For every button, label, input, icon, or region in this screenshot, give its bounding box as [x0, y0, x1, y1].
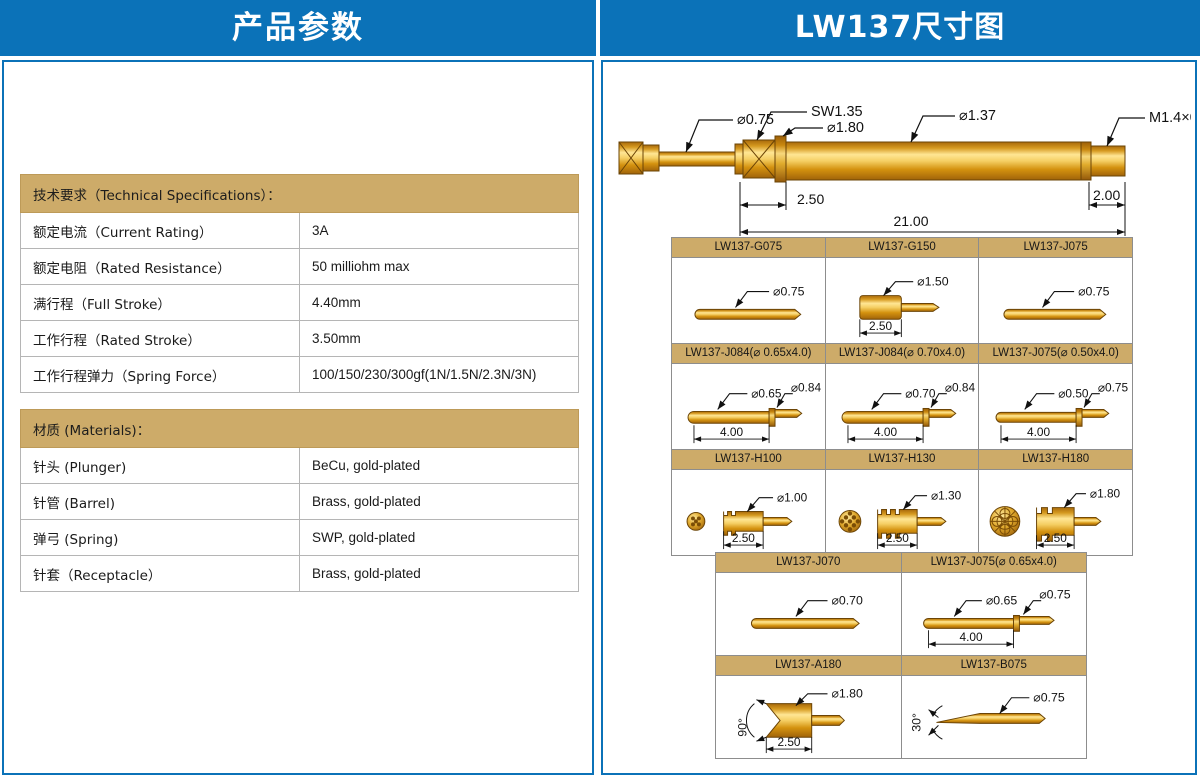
- angle-label: 90°: [736, 718, 750, 737]
- len-label: 2.50: [1044, 531, 1067, 545]
- variant-drawing-row: ⌀0.75 ⌀1.50 2.50: [672, 258, 1133, 344]
- main-barrel: [786, 142, 1081, 180]
- len-label: 4.00: [874, 425, 897, 439]
- dim-text-thread: 2.00: [1093, 187, 1120, 203]
- drawing-h100: ⌀1.00 2.50: [672, 470, 825, 555]
- variant-name: LW137-J070: [716, 553, 902, 573]
- drawing-j070: ⌀0.70: [716, 573, 901, 655]
- crown-face-view: [839, 511, 861, 533]
- label-wrench-flat: SW1.35: [811, 104, 863, 120]
- table-row: 弹弓 (Spring) SWP, gold-plated: [21, 520, 579, 556]
- variant-header-row: LW137-J070 LW137-J075(⌀ 0.65x4.0): [716, 553, 1087, 573]
- len-label: 2.50: [885, 531, 908, 545]
- table-row: 工作行程（Rated Stroke） 3.50mm: [21, 321, 579, 357]
- variant-name: LW137-H180: [979, 450, 1133, 470]
- dia2-label: ⌀0.84: [944, 381, 975, 395]
- table-row: 额定电阻（Rated Resistance） 50 milliohm max: [21, 249, 579, 285]
- dim-text-total: 21.00: [893, 213, 928, 229]
- material-value: Brass, gold-plated: [300, 556, 579, 592]
- table-row: 额定电流（Current Rating） 3A: [21, 213, 579, 249]
- len-label: 4.00: [720, 425, 743, 439]
- dia2-label: ⌀0.75: [1098, 381, 1129, 395]
- dia-label: ⌀1.80: [1090, 487, 1121, 501]
- label-flange-dia: ⌀1.80: [827, 120, 864, 136]
- variant-drawing-row: 90° ⌀1.80 2.50: [716, 676, 1087, 759]
- material-value: BeCu, gold-plated: [300, 448, 579, 484]
- leader-barrel-dia: [911, 116, 955, 142]
- dim-stroke-length: [740, 182, 786, 218]
- angle-label: 30°: [909, 713, 923, 732]
- table-row: 工作行程弹力（Spring Force） 100/150/230/300gf(1…: [21, 357, 579, 393]
- variant-name: LW137-H100: [672, 450, 826, 470]
- variant-cell-j075-065: ⌀0.65 ⌀0.75 4.00: [901, 573, 1087, 656]
- crown-face-view: [990, 507, 1020, 537]
- len-label: 4.00: [1027, 425, 1050, 439]
- variant-cell-j084-070: ⌀0.70 ⌀0.84 4.00: [825, 364, 979, 450]
- variant-name: LW137-G150: [825, 238, 979, 258]
- dia-label: ⌀1.30: [931, 489, 962, 503]
- dia-label: ⌀0.50: [1059, 387, 1090, 401]
- variant-name: LW137-G075: [672, 238, 826, 258]
- variant-cell-j070: ⌀0.70: [716, 573, 902, 656]
- label-barrel-dia: ⌀1.37: [959, 108, 996, 124]
- variant-cell-g075: ⌀0.75: [672, 258, 826, 344]
- dia2-label: ⌀0.84: [791, 381, 822, 395]
- product-parameters-panel: 技术要求（Technical Specifications）： 额定电流（Cur…: [2, 60, 594, 775]
- variant-grid-secondary: LW137-J070 LW137-J075(⌀ 0.65x4.0) ⌀0.70: [715, 552, 1087, 759]
- table-section-header: 技术要求（Technical Specifications）：: [21, 175, 579, 213]
- dia2-label: ⌀0.75: [1039, 588, 1071, 602]
- right-panel-title: LW137尺寸图: [795, 13, 1006, 43]
- table-row: 针管 (Barrel) Brass, gold-plated: [21, 484, 579, 520]
- variant-name: LW137-J075: [979, 238, 1133, 258]
- material-key: 弹弓 (Spring): [21, 520, 300, 556]
- variant-cell-j084-065: ⌀0.65 ⌀0.84 4.00: [672, 364, 826, 450]
- drawing-h130: ⌀1.30 2.50: [826, 470, 979, 555]
- dia-label: ⌀1.50: [917, 275, 949, 289]
- variant-name: LW137-H130: [825, 450, 979, 470]
- leader-plunger-dia: [686, 120, 733, 152]
- spec-value: 100/150/230/300gf(1N/1.5N/2.3N/3N): [300, 357, 579, 393]
- dia-label: ⌀0.75: [1033, 691, 1065, 705]
- variant-cell-a180: 90° ⌀1.80 2.50: [716, 676, 902, 759]
- len-label: 4.00: [959, 630, 982, 644]
- dimension-drawing-panel: ⌀0.75 SW1.35 ⌀1.80 ⌀1.37 M1.4×0.3 2.50 2…: [601, 60, 1197, 775]
- dia-label: ⌀0.70: [831, 594, 863, 608]
- variant-cell-h180: ⌀1.80 2.50: [979, 470, 1133, 556]
- dia-label: ⌀0.70: [905, 387, 936, 401]
- drawing-j084-070: ⌀0.70 ⌀0.84 4.00: [826, 364, 979, 449]
- dia-label: ⌀0.65: [751, 387, 782, 401]
- left-receptacle: [619, 142, 659, 174]
- table-row: 针头 (Plunger) BeCu, gold-plated: [21, 448, 579, 484]
- hex-knurl-section: [735, 136, 786, 182]
- drawing-g150: ⌀1.50 2.50: [826, 258, 979, 343]
- drawing-j075-065: ⌀0.65 ⌀0.75 4.00: [902, 573, 1087, 655]
- table-row: 针套（Receptacle） Brass, gold-plated: [21, 556, 579, 592]
- spec-value: 4.40mm: [300, 285, 579, 321]
- spec-key: 工作行程（Rated Stroke）: [21, 321, 300, 357]
- dia-label: ⌀0.75: [773, 285, 805, 299]
- spec-value: 3.50mm: [300, 321, 579, 357]
- variant-header-row: LW137-H100 LW137-H130 LW137-H180: [672, 450, 1133, 470]
- dia-label: ⌀0.75: [1078, 285, 1110, 299]
- materials-title: 材质 (Materials)：: [21, 410, 579, 448]
- len-label: 2.50: [869, 319, 892, 333]
- variant-name: LW137-A180: [716, 656, 902, 676]
- variant-cell-h130: ⌀1.30 2.50: [825, 470, 979, 556]
- drawing-j084-065: ⌀0.65 ⌀0.84 4.00: [672, 364, 825, 449]
- variant-header-row: LW137-J084(⌀ 0.65x4.0) LW137-J084(⌀ 0.70…: [672, 344, 1133, 364]
- drawing-j075-050: ⌀0.50 ⌀0.75 4.00: [979, 364, 1132, 449]
- variant-name: LW137-J075(⌀ 0.65x4.0): [901, 553, 1087, 573]
- dia-label: ⌀1.80: [831, 687, 863, 701]
- table-section-header: 材质 (Materials)：: [21, 410, 579, 448]
- plunger-shaft: [659, 152, 735, 166]
- variant-header-row: LW137-G075 LW137-G150 LW137-J075: [672, 238, 1133, 258]
- variant-header-row: LW137-A180 LW137-B075: [716, 656, 1087, 676]
- variant-cell-g150: ⌀1.50 2.50: [825, 258, 979, 344]
- right-header-bar: LW137尺寸图: [600, 0, 1200, 56]
- crown-face-view: [687, 513, 705, 531]
- table-row: 满行程（Full Stroke） 4.40mm: [21, 285, 579, 321]
- dia-label: ⌀0.65: [985, 594, 1017, 608]
- len-label: 2.50: [732, 531, 755, 545]
- material-value: Brass, gold-plated: [300, 484, 579, 520]
- material-key: 针套（Receptacle）: [21, 556, 300, 592]
- spec-key: 额定电流（Current Rating）: [21, 213, 300, 249]
- spec-key: 额定电阻（Rated Resistance）: [21, 249, 300, 285]
- variant-name: LW137-J084(⌀ 0.70x4.0): [825, 344, 979, 364]
- variant-cell-j075: ⌀0.75: [979, 258, 1133, 344]
- len-label: 2.50: [777, 735, 800, 749]
- variant-drawing-row: ⌀0.65 ⌀0.84 4.00: [672, 364, 1133, 450]
- spec-value: 3A: [300, 213, 579, 249]
- spec-value: 50 milliohm max: [300, 249, 579, 285]
- drawing-j075: ⌀0.75: [979, 258, 1132, 343]
- variant-name: LW137-B075: [901, 656, 1087, 676]
- datasheet-page: 产品参数 LW137尺寸图 技术要求（Technical Specificati…: [0, 0, 1200, 779]
- dia-label: ⌀1.00: [777, 491, 808, 505]
- threaded-end: [1081, 142, 1125, 180]
- left-panel-title: 产品参数: [232, 13, 364, 44]
- label-thread: M1.4×0.3: [1149, 110, 1191, 126]
- technical-specifications-table: 技术要求（Technical Specifications）： 额定电流（Cur…: [20, 174, 579, 393]
- dim-text-stroke: 2.50: [797, 191, 824, 207]
- spec-key: 工作行程弹力（Spring Force）: [21, 357, 300, 393]
- leader-flange: [783, 128, 823, 136]
- variant-cell-h100: ⌀1.00 2.50: [672, 470, 826, 556]
- spec-key: 满行程（Full Stroke）: [21, 285, 300, 321]
- main-assembly-drawing: ⌀0.75 SW1.35 ⌀1.80 ⌀1.37 M1.4×0.3 2.50 2…: [611, 90, 1191, 240]
- variant-drawing-row: ⌀0.70 ⌀0.65 ⌀0.75: [716, 573, 1087, 656]
- materials-table: 材质 (Materials)： 针头 (Plunger) BeCu, gold-…: [20, 409, 579, 592]
- drawing-h180: ⌀1.80 2.50: [979, 470, 1132, 555]
- leader-thread: [1107, 118, 1145, 146]
- variant-cell-j075-050: ⌀0.50 ⌀0.75 4.00: [979, 364, 1133, 450]
- material-key: 针头 (Plunger): [21, 448, 300, 484]
- variant-grid-primary: LW137-G075 LW137-G150 LW137-J075 ⌀0.75: [671, 237, 1133, 556]
- drawing-a180: 90° ⌀1.80 2.50: [716, 676, 901, 758]
- material-key: 针管 (Barrel): [21, 484, 300, 520]
- variant-name: LW137-J075(⌀ 0.50x4.0): [979, 344, 1133, 364]
- variant-drawing-row: ⌀1.00 2.50: [672, 470, 1133, 556]
- label-plunger-dia: ⌀0.75: [737, 112, 774, 128]
- drawing-b075: 30° ⌀0.75: [902, 676, 1087, 758]
- drawing-g075: ⌀0.75: [672, 258, 825, 343]
- variant-cell-b075: 30° ⌀0.75: [901, 676, 1087, 759]
- variant-name: LW137-J084(⌀ 0.65x4.0): [672, 344, 826, 364]
- material-value: SWP, gold-plated: [300, 520, 579, 556]
- technical-specifications-title: 技术要求（Technical Specifications）：: [21, 175, 579, 213]
- left-header-bar: 产品参数: [0, 0, 596, 56]
